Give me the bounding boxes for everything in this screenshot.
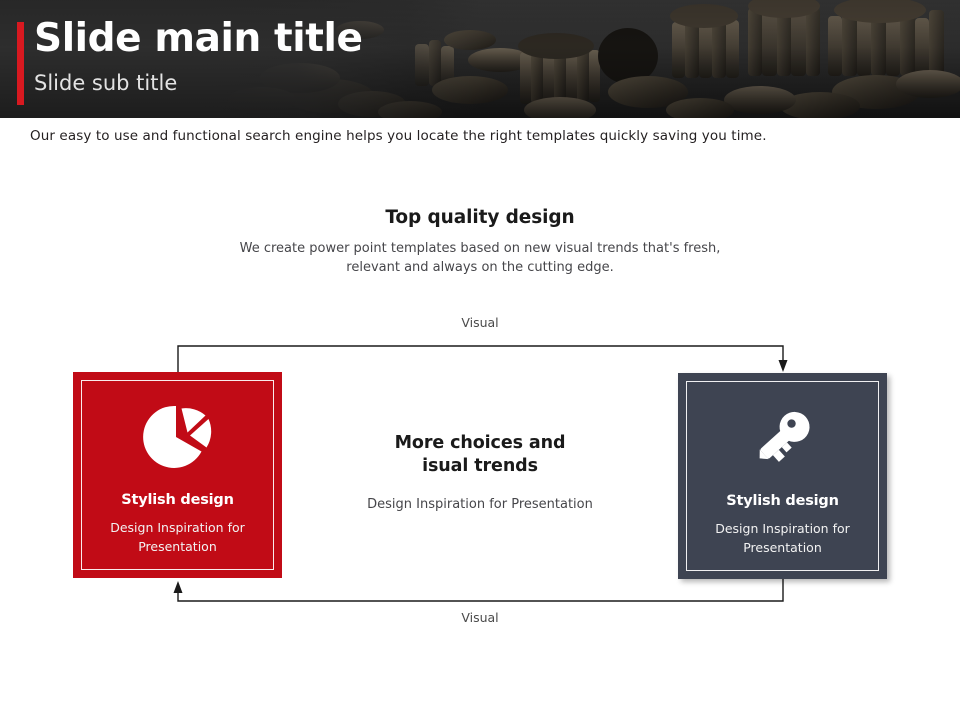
card-left-description: Design Inspiration for Presentation <box>73 518 282 556</box>
slide-canvas: Slide main title Slide sub title Our eas… <box>0 0 960 720</box>
connector-top-path <box>178 346 783 372</box>
card-left-stylish-design[interactable]: Stylish design Design Inspiration for Pr… <box>73 372 282 578</box>
title-accent-bar <box>17 22 24 105</box>
slide-header: Slide main title Slide sub title <box>0 0 960 118</box>
title-block: Slide main title Slide sub title <box>34 16 363 96</box>
card-right-description: Design Inspiration for Presentation <box>678 519 887 557</box>
center-heading-line1: More choices and <box>395 433 566 453</box>
connector-bottom-arrowhead <box>174 581 183 593</box>
card-right-title: Stylish design <box>678 493 887 509</box>
connector-bottom-label: Visual <box>430 610 530 625</box>
card-left-title: Stylish design <box>73 492 282 508</box>
pie-chart-icon <box>73 396 282 478</box>
intro-paragraph: Our easy to use and functional search en… <box>30 128 930 144</box>
center-description: Design Inspiration for Presentation <box>330 497 630 512</box>
connector-bottom-path <box>178 579 783 601</box>
key-icon <box>678 397 887 479</box>
center-heading: More choices and isual trends <box>330 432 630 478</box>
card-right-stylish-design[interactable]: Stylish design Design Inspiration for Pr… <box>678 373 887 579</box>
center-heading-line2: isual trends <box>422 456 538 476</box>
connector-top-arrowhead <box>779 360 788 372</box>
slide-main-title: Slide main title <box>34 16 363 62</box>
top-section-description: We create power point templates based on… <box>230 239 730 277</box>
top-section-heading: Top quality design <box>230 207 730 228</box>
slide-sub-title: Slide sub title <box>34 70 363 96</box>
connector-top-label: Visual <box>430 315 530 330</box>
